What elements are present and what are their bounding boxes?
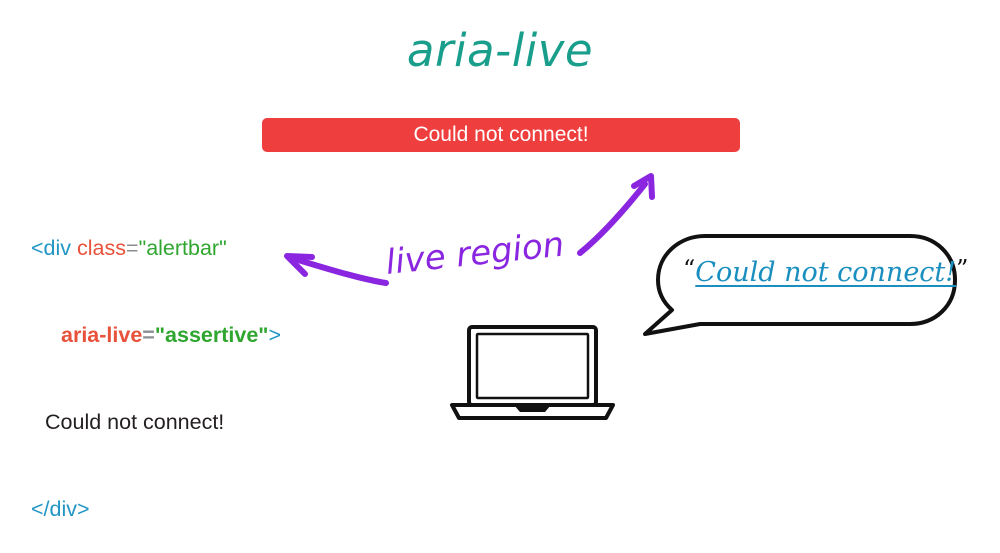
code-token-attr-class: class xyxy=(77,236,126,260)
laptop-icon xyxy=(452,327,613,418)
speech-bubble-text: “Could not connect!” xyxy=(683,255,968,288)
code-token-tag-close-bracket: > xyxy=(268,323,281,347)
code-token-equals-1: = xyxy=(126,236,139,260)
code-line-1: <div class="alertbar" xyxy=(31,234,281,263)
code-token-equals-2: = xyxy=(142,323,155,347)
arrow-up-to-alertbar-icon xyxy=(580,176,652,253)
alert-bar-live-region: Could not connect! xyxy=(262,118,740,152)
code-token-value-alertbar: "alertbar" xyxy=(139,236,227,260)
code-token-value-assertive: "assertive" xyxy=(155,323,269,347)
code-snippet: <div class="alertbar" aria-live="asserti… xyxy=(31,176,281,553)
arrow-left-to-code-icon xyxy=(287,256,386,283)
code-line-4: </div> xyxy=(31,495,281,524)
code-token-attr-aria-live: aria-live xyxy=(61,323,142,347)
live-region-annotation-label: live region xyxy=(384,225,566,283)
code-line-2: aria-live="assertive"> xyxy=(31,321,281,350)
page-title: aria-live xyxy=(0,24,1000,77)
alert-bar-message: Could not connect! xyxy=(413,123,588,147)
code-token-inner-text: Could not connect! xyxy=(45,410,224,434)
open-quote: “ xyxy=(683,255,695,283)
code-token-closing-tag: </div> xyxy=(31,497,90,521)
code-token-tag-open: <div xyxy=(31,236,77,260)
speech-bubble-message: Could not connect! xyxy=(695,257,956,288)
code-line-3: Could not connect! xyxy=(31,408,281,437)
close-quote: ” xyxy=(956,255,968,283)
